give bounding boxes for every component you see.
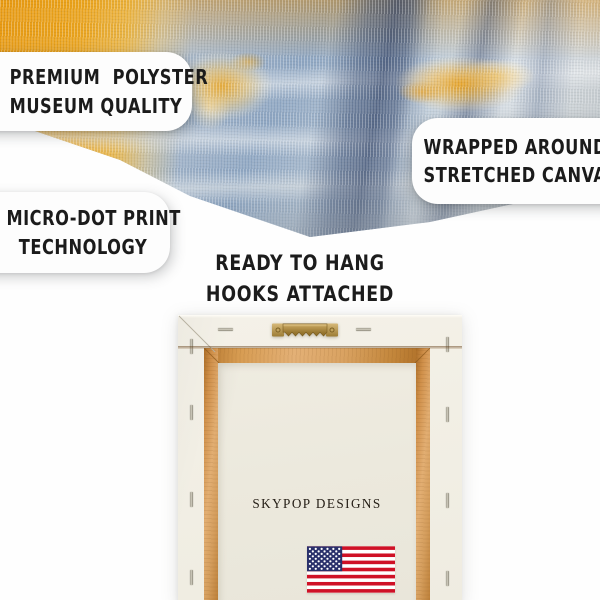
badge-premium-line1: PREMIUM POLYSTER [10,63,181,91]
corner-fold-crease-icon [178,315,218,355]
canvas-inner-backing-panel: SKYPOP DESIGNS [218,363,416,600]
us-flag-icon [307,546,395,593]
frame-top-shadow [178,346,462,349]
canvas-staple [446,407,449,422]
flag-label: United States flag [218,363,219,364]
infographic-canvas: Angled close-up of an abstract oil paint… [0,0,600,600]
badge-premium-line2: MUSEUM QUALITY [10,92,181,120]
heading-line2: HOOKS ATTACHED [30,280,570,311]
sawtooth-hanger-icon [272,322,338,339]
canvas-staple [446,493,449,508]
badge-wrapped-line1: WRAPPED AROUND [424,133,593,161]
canvas-staple [190,492,193,507]
canvas-reverse-view: SKYPOP DESIGNS [178,315,462,600]
canvas-staple [190,405,193,420]
canvas-staple [356,328,371,331]
canvas-staple [218,328,233,331]
canvas-staple [446,571,449,586]
canvas-staple [446,337,449,352]
badge-wrapped-around: WRAPPED AROUND STRETCHED CANVAS [412,118,600,204]
badge-microdot-line1: MICRO-DOT PRINT [6,204,159,232]
stretcher-bar-left [204,348,218,600]
badge-wrapped-line2: STRETCHED CANVAS [424,161,593,189]
stretcher-bar-top [204,348,430,363]
badge-micro-dot-print: MICRO-DOT PRINT TECHNOLOGY [0,192,170,273]
wrap-edge-highlight [178,315,462,318]
brand-label: SKYPOP DESIGNS [218,496,416,512]
stretcher-bar-right [416,348,430,600]
badge-microdot-line2: TECHNOLOGY [6,233,159,261]
badge-premium-polyster: PREMIUM POLYSTER MUSEUM QUALITY [0,52,192,131]
canvas-staple [190,570,193,585]
